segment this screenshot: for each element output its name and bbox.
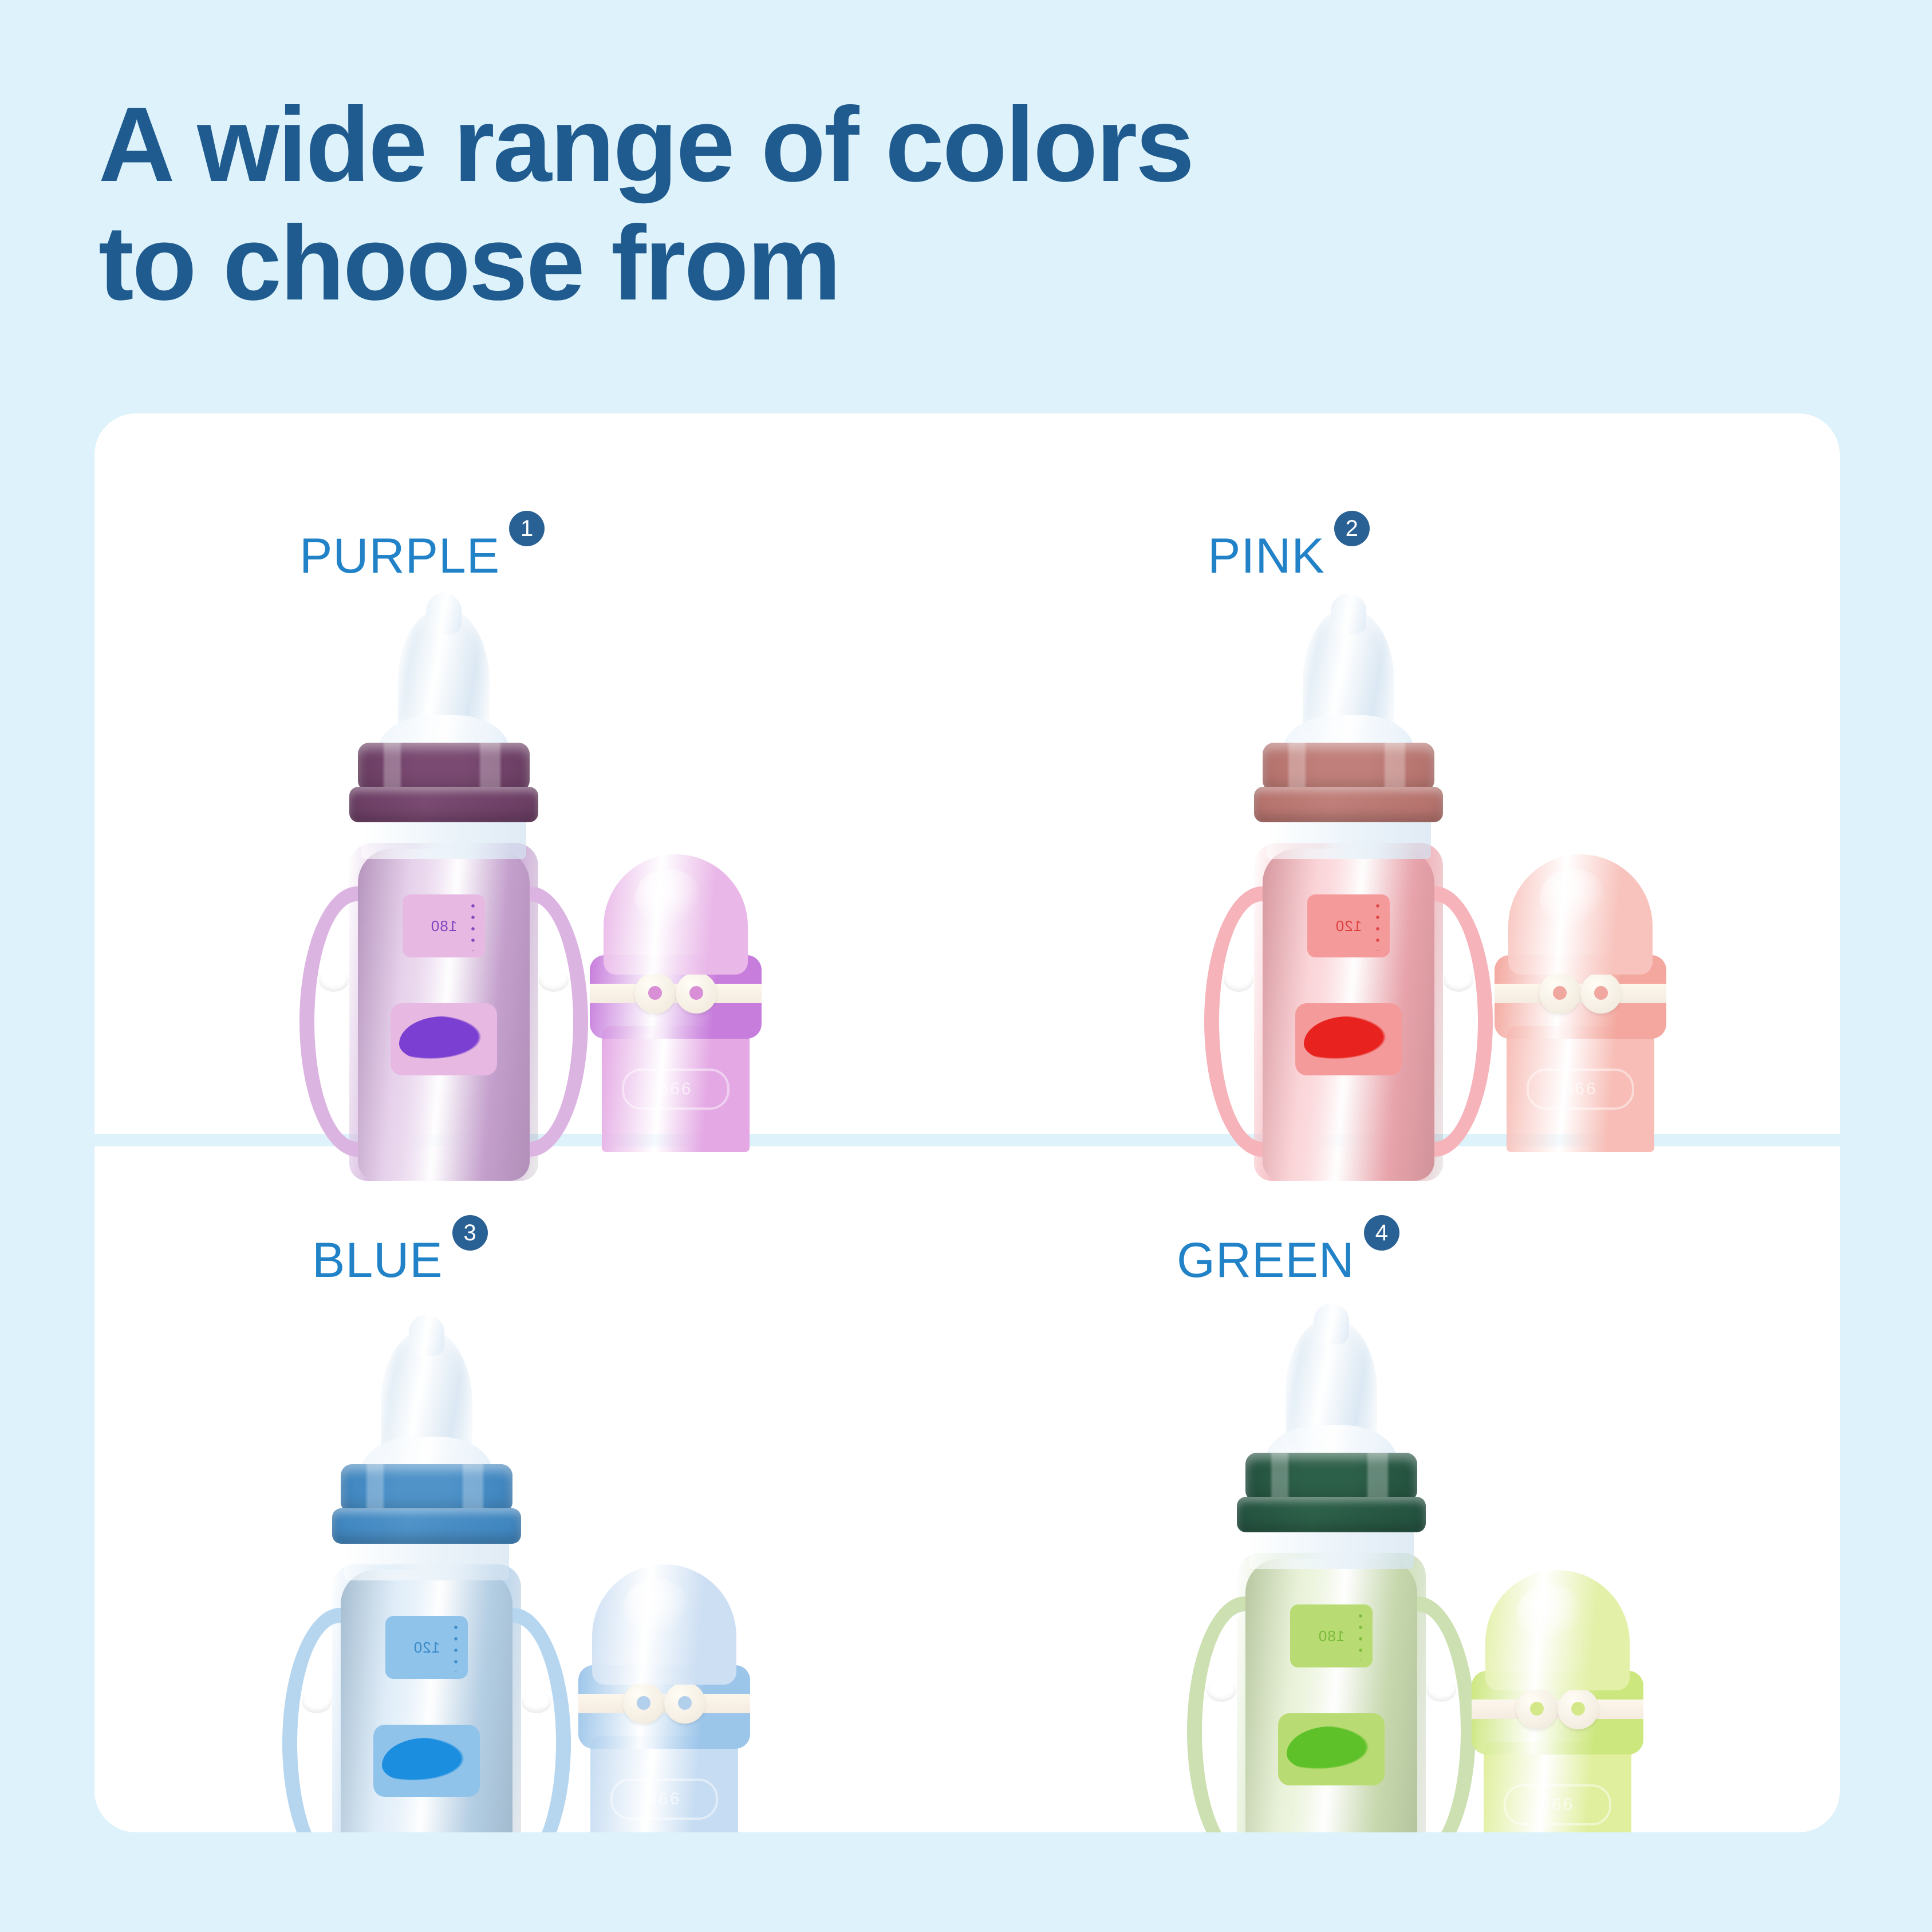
bottle-collar-lip-green (1237, 1497, 1426, 1532)
sleeve-nub-left-purple (319, 969, 349, 992)
variant-badge-green: 4 (1364, 1215, 1399, 1251)
cup-dome-highlight-purple (635, 869, 701, 926)
sleeve-nub-left-pink (1224, 969, 1253, 992)
sippy-cup-blue[interactable]: 666 (570, 1564, 759, 1832)
measure-ticks-green (1358, 1610, 1363, 1661)
bottle-collar-lip-pink (1254, 787, 1443, 822)
bottle-measure-window-green: 180 (1290, 1604, 1373, 1667)
cup-base-pink: 666 (1507, 1026, 1654, 1152)
headline-line-2: to choose from (98, 204, 1645, 323)
variant-badge-blue: 3 (452, 1215, 488, 1251)
cup-buttons-green[interactable] (1516, 1688, 1599, 1729)
sleeve-nub-right-green (1426, 1679, 1456, 1702)
cup-button-2-pink[interactable] (1580, 972, 1622, 1014)
sleeve-nub-left-green (1206, 1679, 1236, 1702)
measure-ticks-purple (470, 900, 476, 951)
measure-ticks-blue (453, 1622, 459, 1672)
variant-header-purple: PURPLE1 (299, 511, 545, 560)
bottle-measure-window-purple: 180 (403, 894, 485, 957)
cup-button-1-blue[interactable] (623, 1682, 664, 1724)
sleeve-nub-right-pink (1444, 969, 1473, 992)
variant-header-pink: PINK2 (1208, 511, 1370, 560)
bottle-graphic-window-green (1278, 1713, 1385, 1785)
sippy-cup-purple[interactable]: 666 (581, 854, 770, 1152)
product-grid-card: PURPLE1180666PINK2120666BLUE3120666GREEN… (94, 413, 1840, 1832)
collar-ridges-green (1245, 1453, 1417, 1502)
bottle-collar-green (1245, 1453, 1417, 1502)
cup-dome-highlight-pink (1540, 869, 1606, 926)
cup-emboss-green: 666 (1504, 1784, 1611, 1825)
variant-label-purple: PURPLE (299, 531, 500, 581)
variant-label-blue: BLUE (312, 1236, 443, 1285)
sleeve-nub-right-blue (522, 1690, 551, 1713)
bottle-pink[interactable]: 120 (1188, 608, 1509, 1181)
collar-ridges-blue (341, 1464, 512, 1513)
bottle-neck-purple (361, 818, 526, 859)
bottle-neck-pink (1266, 818, 1431, 859)
bottle-purple[interactable]: 180 (283, 608, 604, 1181)
variant-label-pink: PINK (1208, 531, 1325, 581)
cup-button-1-purple[interactable] (634, 972, 676, 1014)
sleeve-shading-green (1245, 1559, 1417, 1832)
cup-dome-highlight-blue (624, 1579, 690, 1637)
bottle-collar-blue (341, 1464, 512, 1513)
cup-buttons-pink[interactable] (1539, 972, 1622, 1014)
cup-base-purple: 666 (602, 1026, 750, 1152)
cup-button-2-blue[interactable] (664, 1682, 705, 1724)
bottle-collar-purple (358, 743, 530, 792)
cup-base-green: 666 (1484, 1742, 1631, 1832)
cup-button-1-green[interactable] (1516, 1688, 1558, 1729)
cup-button-2-purple[interactable] (676, 972, 717, 1014)
cup-dome-highlight-green (1517, 1584, 1583, 1642)
cup-dome-purple (604, 854, 748, 975)
bottle-nipple-pink (1303, 608, 1394, 754)
bottle-graphic-window-purple (391, 1003, 497, 1075)
bottle-collar-pink (1263, 743, 1434, 792)
collar-ridges-purple (358, 743, 530, 792)
variant-header-green: GREEN4 (1177, 1215, 1399, 1264)
whale-graphic-pink (1304, 1016, 1393, 1063)
cup-base-blue: 666 (590, 1736, 738, 1832)
page-title: A wide range of colors to choose from (98, 86, 1645, 323)
variant-header-blue: BLUE3 (312, 1215, 488, 1264)
bottle-measure-window-blue: 120 (385, 1616, 468, 1679)
cup-emboss-pink: 666 (1527, 1068, 1634, 1110)
bottle-neck-blue (344, 1539, 509, 1580)
bottle-nipple-green (1286, 1318, 1377, 1464)
cup-emboss-blue: 666 (610, 1779, 718, 1820)
collar-ridges-pink (1263, 743, 1434, 792)
headline-line-1: A wide range of colors (98, 86, 1645, 204)
measure-ticks-pink (1375, 900, 1381, 951)
variant-badge-pink: 2 (1334, 511, 1370, 546)
variant-badge-purple: 1 (509, 511, 545, 546)
cup-button-2-green[interactable] (1558, 1688, 1599, 1729)
bottle-sleeve-green (1245, 1559, 1417, 1832)
sleeve-nub-right-purple (539, 969, 569, 992)
sippy-cup-green[interactable]: 666 (1463, 1570, 1652, 1832)
bottle-collar-lip-blue (332, 1508, 521, 1544)
whale-graphic-purple (399, 1016, 488, 1063)
bottle-blue[interactable]: 120 (266, 1330, 587, 1832)
bottle-green[interactable]: 180 (1171, 1318, 1492, 1832)
bottle-collar-lip-purple (349, 787, 538, 822)
sleeve-nub-left-blue (302, 1690, 332, 1713)
cup-button-1-pink[interactable] (1539, 972, 1580, 1014)
bottle-neck-green (1249, 1528, 1414, 1569)
bottle-nipple-purple (398, 608, 490, 754)
variant-label-green: GREEN (1177, 1236, 1355, 1285)
bottle-nipple-blue (381, 1330, 472, 1476)
cup-buttons-purple[interactable] (634, 972, 717, 1014)
cup-dome-green (1485, 1570, 1630, 1690)
whale-graphic-green (1287, 1726, 1376, 1773)
cup-dome-blue (592, 1564, 736, 1685)
whale-graphic-blue (382, 1738, 471, 1784)
cup-emboss-purple: 666 (622, 1068, 730, 1110)
cup-dome-pink (1508, 854, 1653, 975)
cup-buttons-blue[interactable] (623, 1682, 705, 1724)
bottle-measure-window-pink: 120 (1307, 894, 1390, 957)
sippy-cup-pink[interactable]: 666 (1486, 854, 1675, 1152)
bottle-graphic-window-pink (1295, 1003, 1402, 1075)
bottle-graphic-window-blue (373, 1725, 480, 1797)
